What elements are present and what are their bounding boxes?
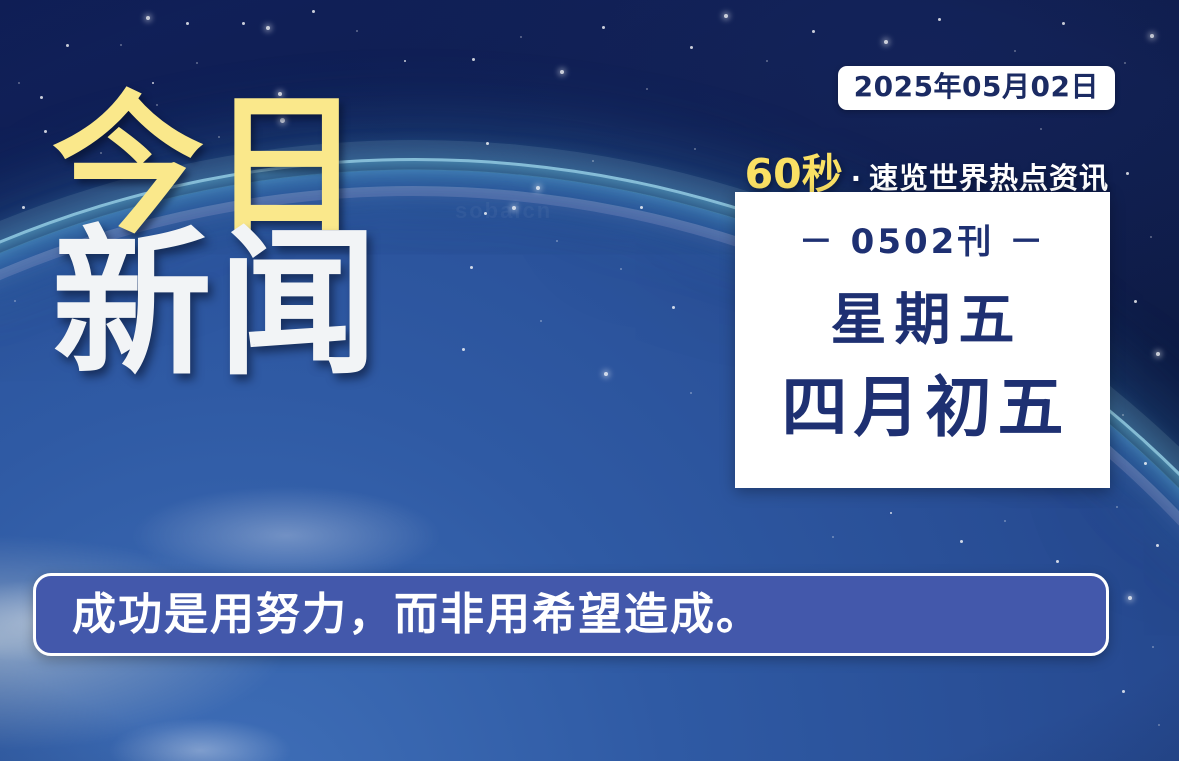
tagline-highlight: 60秒: [745, 140, 843, 200]
date-badge: 2025年05月02日: [838, 66, 1115, 110]
date-card: － 0502刊 － 星期五 四月初五: [735, 192, 1110, 488]
quote-text: 成功是用努力，而非用希望造成。: [36, 593, 762, 637]
news-poster: sobaicn 今日 新闻 2025年05月02日 60秒 · 速览世界热点资讯…: [0, 0, 1179, 761]
card-weekday: 星期五: [823, 293, 1023, 349]
poster-title: 今日 新闻: [52, 96, 472, 377]
card-issue-number: － 0502刊 －: [799, 214, 1046, 263]
tagline-description: 速览世界热点资讯: [869, 155, 1109, 197]
card-lunar-date: 四月初五: [776, 375, 1070, 441]
tagline: 60秒 · 速览世界热点资讯: [745, 140, 1109, 200]
quote-banner: 成功是用努力，而非用希望造成。: [33, 573, 1109, 656]
title-line-xinwen: 新闻: [52, 230, 472, 377]
tagline-separator-dot: ·: [849, 164, 863, 195]
